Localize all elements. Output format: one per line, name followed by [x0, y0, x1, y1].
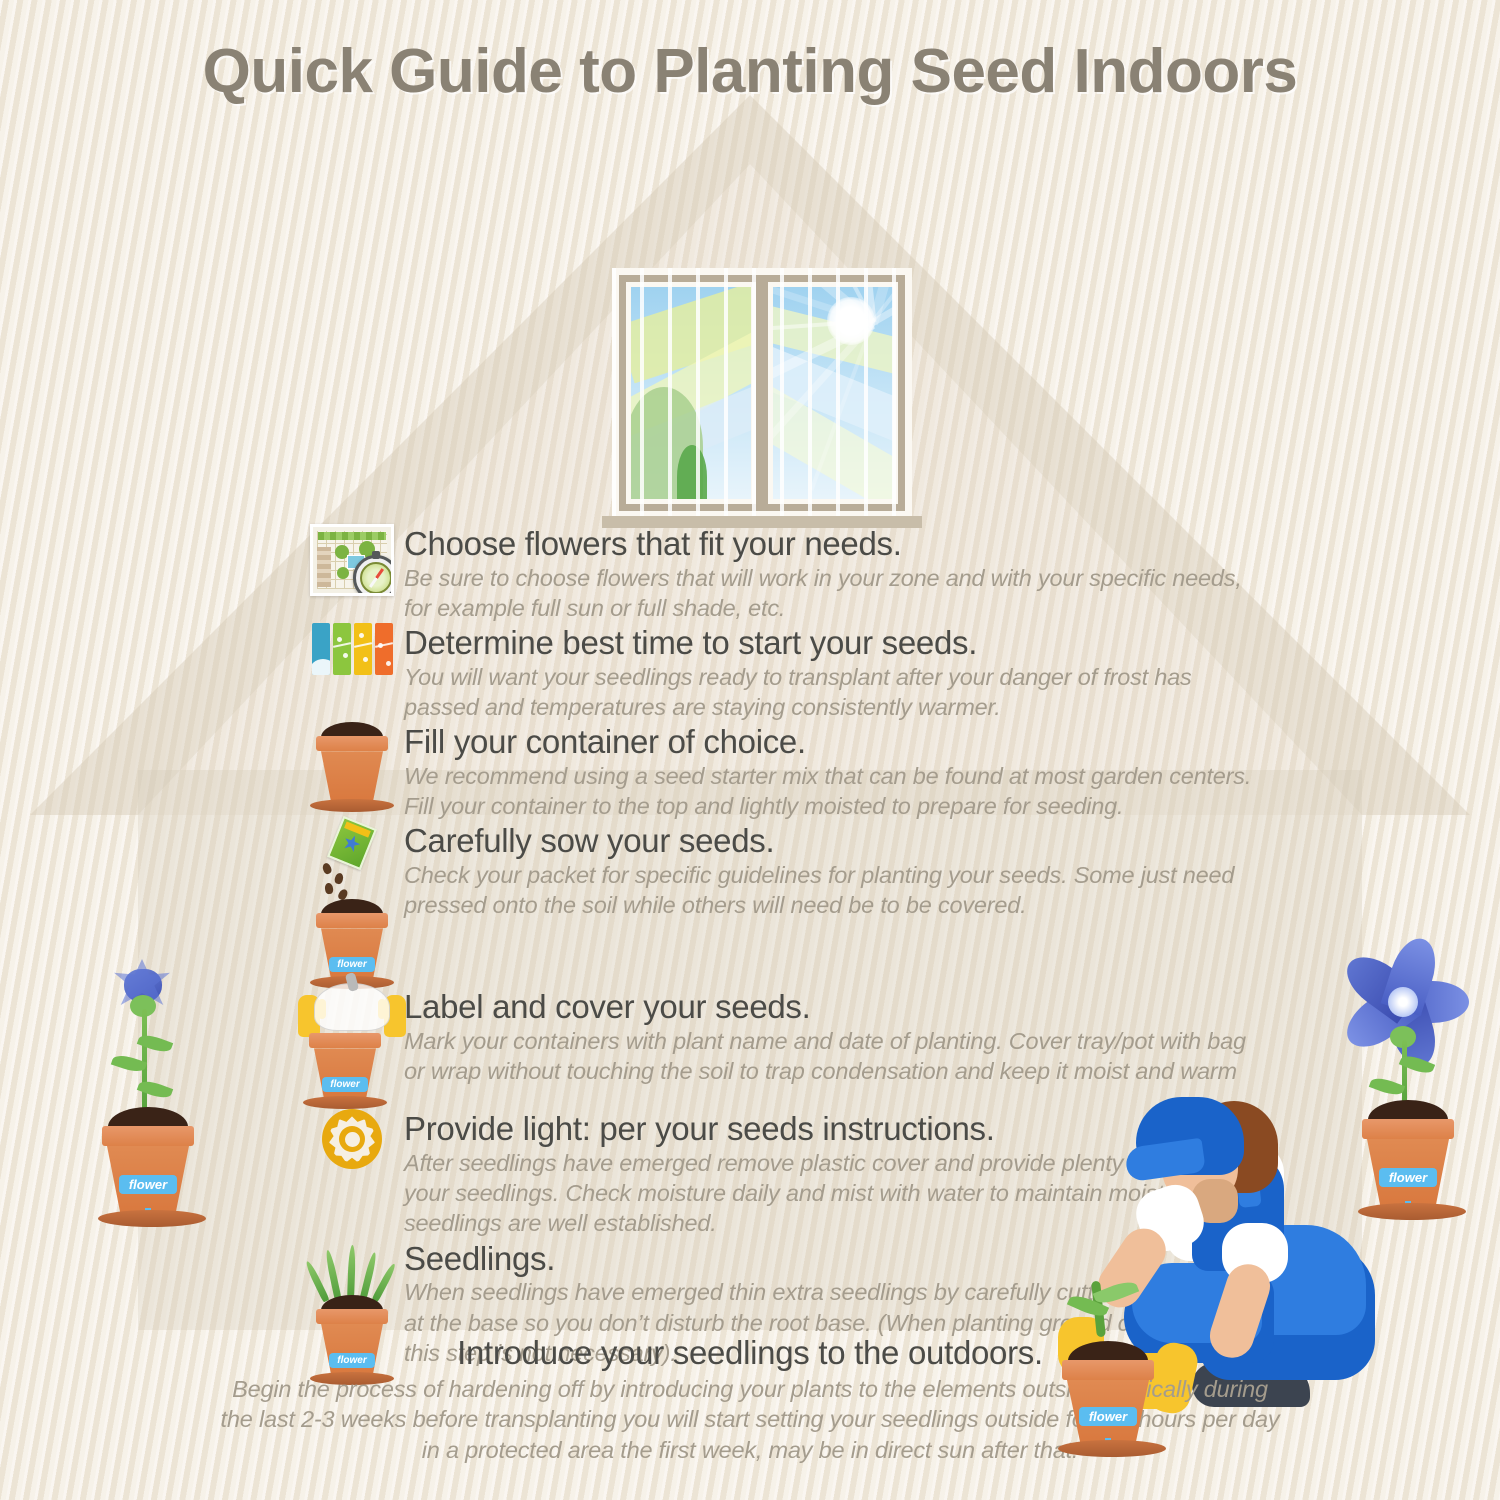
step-body: We recommend using a seed starter mix th… — [404, 761, 1260, 821]
infographic-poster: Quick Guide to Planting Seed Indoors — [0, 0, 1500, 1500]
step-body: Mark your containers with plant name and… — [404, 1026, 1260, 1086]
step-heading: Fill your container of choice. — [404, 724, 1260, 761]
step-body: Be sure to choose flowers that will work… — [404, 563, 1260, 623]
four-seasons-icon — [300, 623, 404, 679]
plant-tag: flower — [322, 1077, 368, 1092]
step-item: flower Label and cover your seeds. Mark … — [300, 987, 1260, 1109]
step-heading: Carefully sow your seeds. — [404, 823, 1260, 860]
step-heading: Label and cover your seeds. — [404, 989, 1260, 1026]
seed-packet-sowing-icon: flower — [300, 821, 404, 989]
step-item: Determine best time to start your seeds.… — [300, 623, 1260, 722]
step-body: Check your packet for specific guideline… — [404, 860, 1260, 920]
plant-tag: flower — [119, 1175, 177, 1194]
step-item: Choose flowers that fit your needs. Be s… — [300, 524, 1260, 623]
gloves-covered-pot-icon: flower — [300, 987, 404, 1109]
sunlit-window-illustration — [612, 268, 912, 518]
filled-pot-icon — [300, 722, 404, 812]
plant-tag: flower — [329, 957, 375, 972]
step-item: Fill your container of choice. We recomm… — [300, 722, 1260, 821]
step-body: You will want your seedlings ready to tr… — [404, 662, 1260, 722]
step-item: flower Carefully sow your seeds. Check y… — [300, 821, 1260, 989]
plant-tag: flower — [1079, 1407, 1137, 1426]
plant-tag: flower — [1379, 1168, 1437, 1187]
step-heading: Determine best time to start your seeds. — [404, 625, 1260, 662]
blue-bud-in-pot: flower — [72, 965, 232, 1250]
garden-plan-compass-icon — [300, 524, 404, 596]
step-heading: Choose flowers that fit your needs. — [404, 526, 1260, 563]
falling-seeds — [317, 863, 357, 899]
page-title: Quick Guide to Planting Seed Indoors — [0, 36, 1500, 107]
seed-packet-icon — [327, 816, 377, 870]
sun-icon — [300, 1109, 404, 1169]
compass-icon — [353, 555, 394, 596]
